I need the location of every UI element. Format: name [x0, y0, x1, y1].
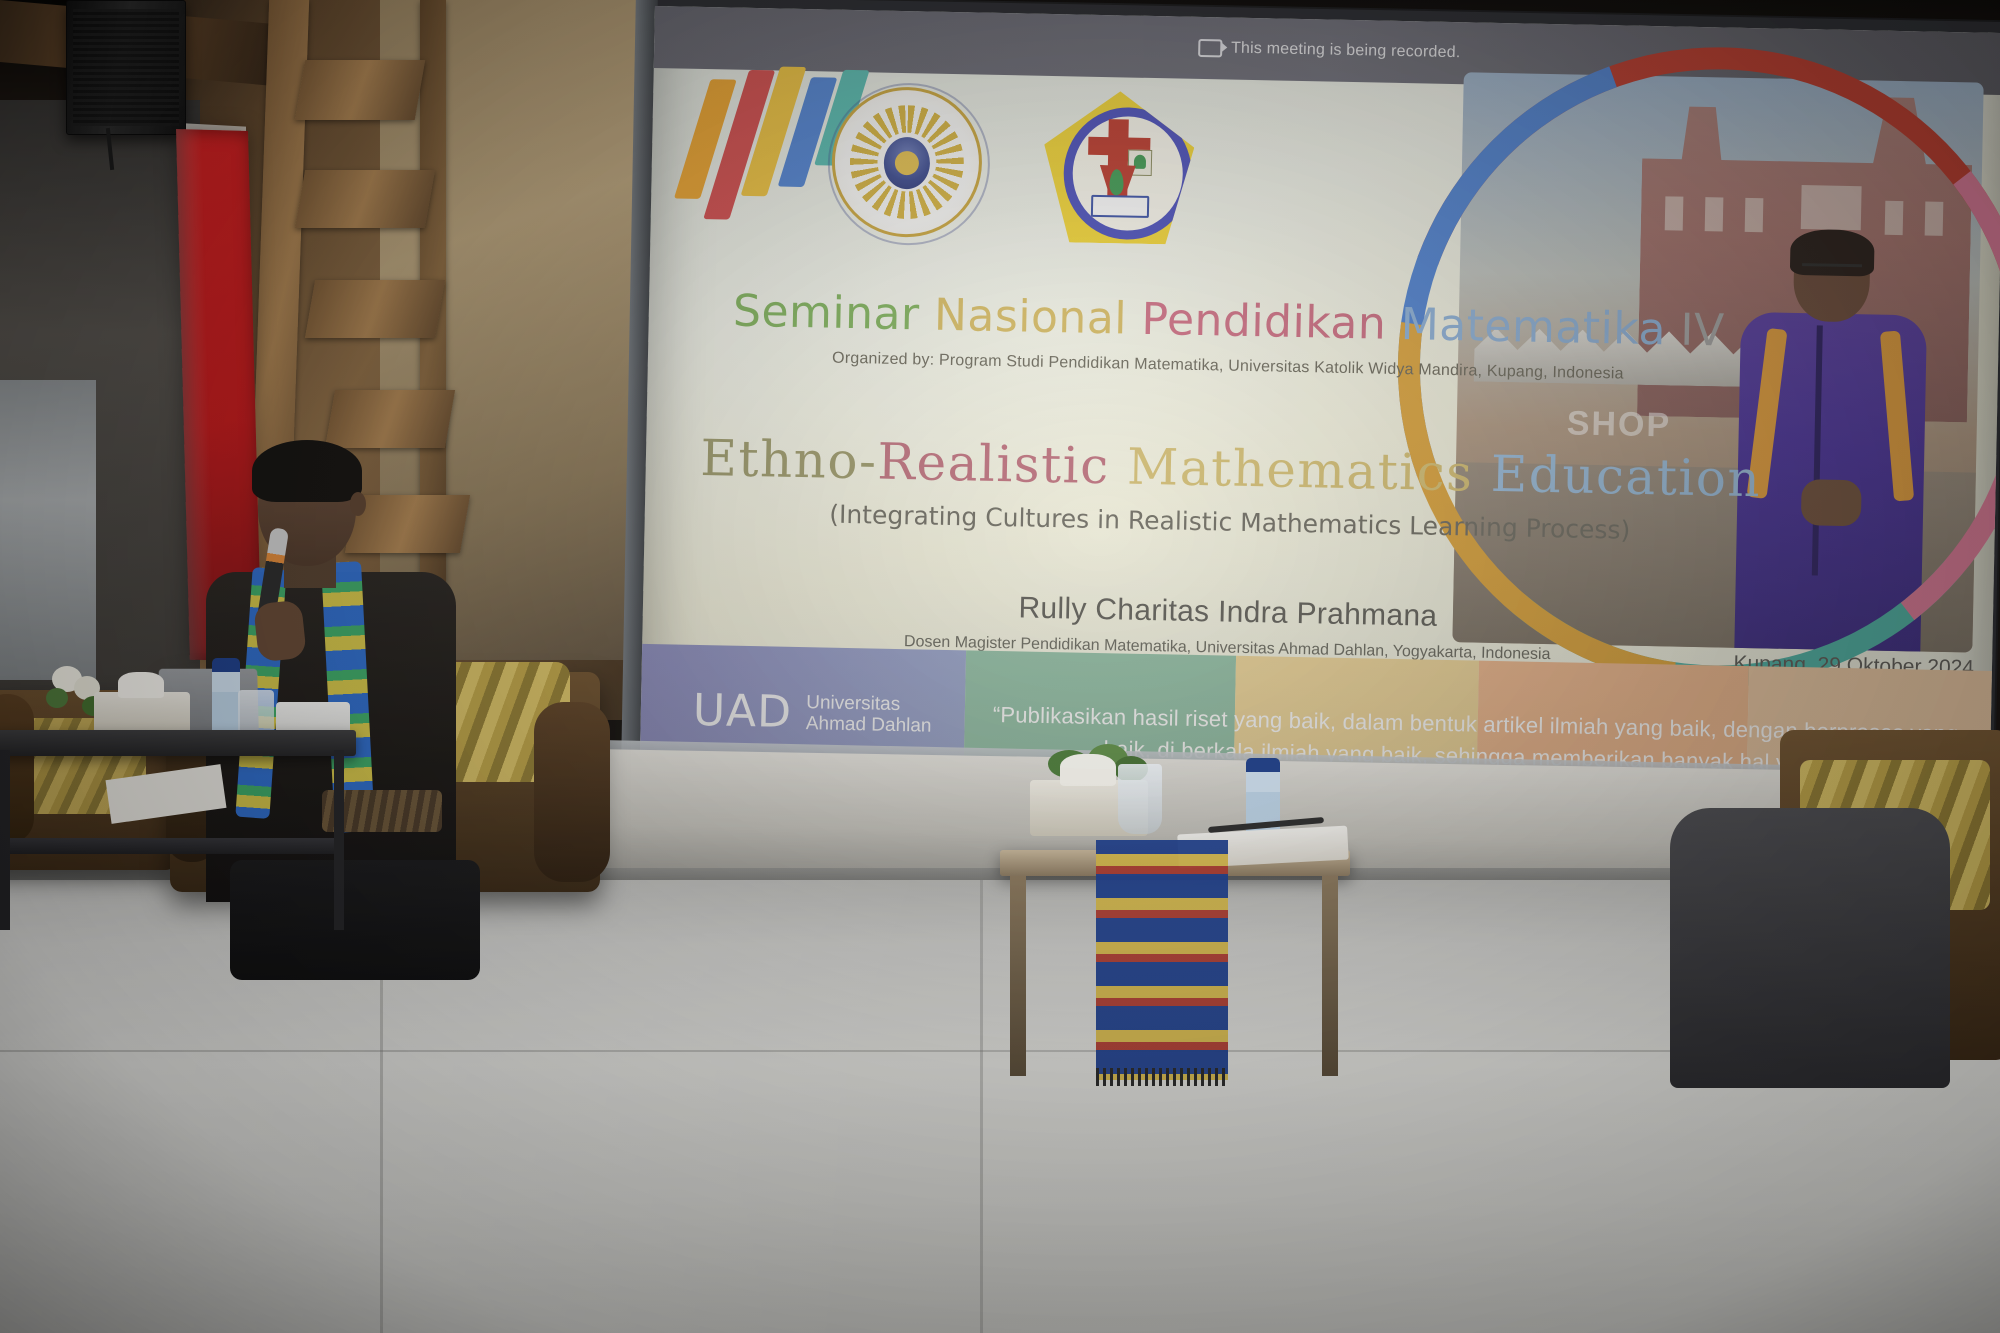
sofa-armrest-right: [534, 702, 610, 882]
uad-footer-logo: UAD Universitas Ahmad Dahlan: [692, 689, 932, 738]
drinking-glass: [1118, 764, 1162, 834]
coffee-table-left: [0, 730, 360, 920]
uad-brand-line-2: Ahmad Dahlan: [806, 713, 932, 737]
headline-part-3: Mathematics: [1127, 438, 1474, 503]
woven-table-runner: [1096, 840, 1228, 1080]
open-book-icon: [1091, 195, 1149, 218]
presenter-hair: [252, 440, 362, 502]
presenter-ear: [350, 492, 366, 516]
second-seated-person: [1670, 808, 1950, 1088]
university-logos: [830, 86, 1195, 245]
table-shelf: [0, 838, 344, 854]
universitas-katolik-widya-mandira-logo: [1042, 90, 1195, 245]
wood-slat: [295, 60, 426, 120]
table-leg: [334, 750, 344, 930]
universitas-ahmad-dahlan-logo: [830, 86, 983, 239]
presenter-hand: [253, 600, 307, 663]
sofa-right: [1780, 730, 2000, 1060]
seminar-title-word-4: Matematika: [1400, 299, 1666, 355]
floor-seam: [980, 880, 983, 1333]
headline-part-2: Realistic: [877, 433, 1110, 496]
video-camera-icon: [1198, 39, 1222, 57]
table-leg: [1322, 876, 1338, 1076]
wood-slat: [295, 170, 435, 228]
headline-part-1: Ethno-: [700, 429, 878, 491]
paper-sheet: [106, 764, 227, 824]
table-top: [0, 730, 356, 756]
seminar-title-word-5: IV: [1680, 305, 1725, 357]
wall-light-panel: [0, 380, 96, 680]
flower-leaf: [46, 688, 68, 708]
presentation-slide: This meeting is being recorded.: [640, 6, 2000, 793]
table-leg: [1010, 876, 1026, 1076]
uad-brand-lines: Universitas Ahmad Dahlan: [806, 692, 933, 737]
side-table-right: [1000, 820, 1360, 1080]
table-leg: [0, 750, 10, 930]
headline-part-4: Education: [1490, 445, 1762, 508]
wood-slat: [305, 280, 445, 338]
runner-fringe: [1096, 1068, 1228, 1086]
leaf-icon: [1109, 169, 1124, 195]
seminar-title-word-1: Seminar: [733, 286, 921, 341]
pentagon-shield: [1042, 90, 1195, 245]
seminar-title-word-3: Pendidikan: [1141, 294, 1387, 350]
uad-brand-line-1: Universitas: [806, 692, 932, 716]
conference-photo-scene: This meeting is being recorded.: [0, 0, 2000, 1333]
uad-wordmark: UAD: [692, 689, 792, 735]
ceiling-speaker: [66, 0, 186, 135]
seminar-title-word-2: Nasional: [934, 290, 1128, 345]
